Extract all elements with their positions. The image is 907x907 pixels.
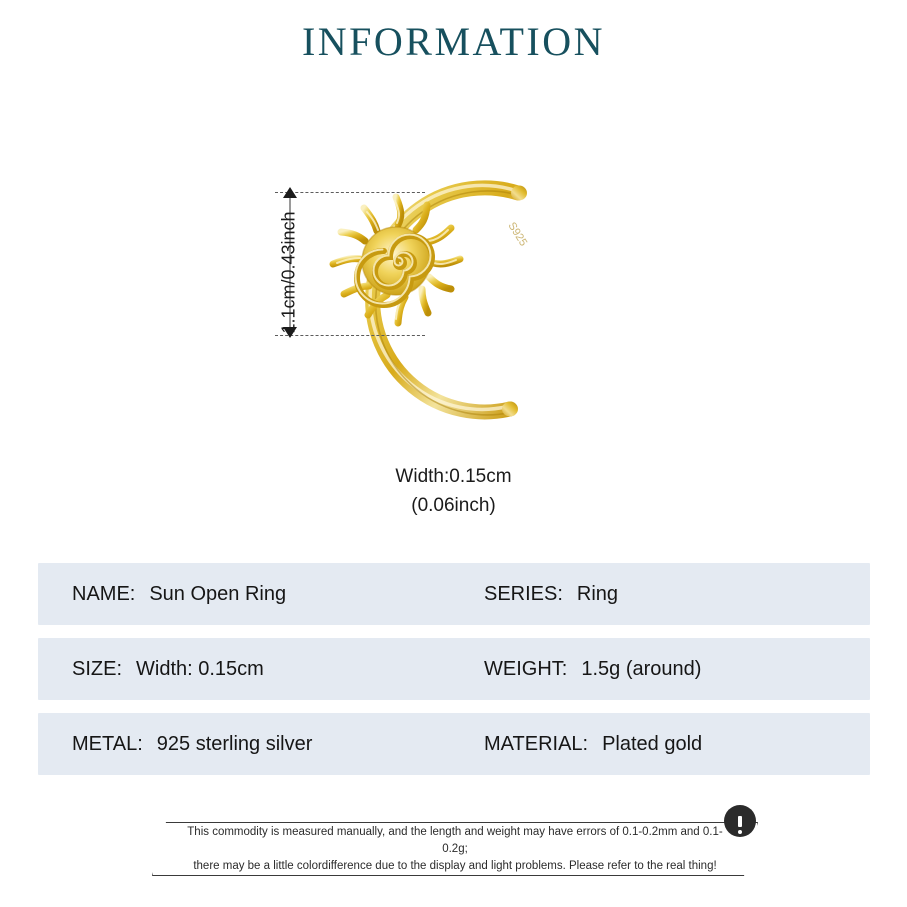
spec-series: SERIES: Ring (470, 583, 870, 606)
height-dimension-label: 1.1cm/0.43inch (279, 211, 300, 333)
disclaimer-line-2: there may be a little colordifference du… (193, 858, 716, 875)
spec-key: METAL: (72, 733, 143, 756)
exclamation-circle-icon (724, 805, 756, 837)
disclaimer-line-1: This commodity is measured manually, and… (178, 824, 732, 858)
exclamation-mark (738, 816, 742, 827)
spec-value: 1.5g (around) (581, 658, 701, 681)
spec-size: SIZE: Width: 0.15cm (38, 658, 470, 681)
spec-key: MATERIAL: (484, 733, 588, 756)
page-title: INFORMATION (0, 18, 907, 65)
disclaimer-text: This commodity is measured manually, and… (152, 822, 758, 876)
sun-charm (333, 197, 460, 323)
table-row: SIZE: Width: 0.15cm WEIGHT: 1.5g (around… (38, 638, 870, 700)
spec-material: MATERIAL: Plated gold (470, 733, 870, 756)
s925-stamp: S925 (505, 220, 529, 248)
dimension-arrow-up (283, 187, 297, 198)
spec-value: Plated gold (602, 733, 702, 756)
spec-key: NAME: (72, 583, 135, 606)
spec-value: 925 sterling silver (157, 733, 313, 756)
disclaimer-banner: This commodity is measured manually, and… (152, 822, 758, 876)
dimension-extension-line-top (275, 192, 425, 193)
ring-image: S925 (300, 165, 590, 455)
spec-key: WEIGHT: (484, 658, 567, 681)
spec-value: Sun Open Ring (149, 583, 286, 606)
spec-name: NAME: Sun Open Ring (38, 583, 470, 606)
table-row: NAME: Sun Open Ring SERIES: Ring (38, 563, 870, 625)
svg-text:S925: S925 (505, 220, 529, 248)
spec-table: NAME: Sun Open Ring SERIES: Ring SIZE: W… (38, 563, 870, 788)
spec-value: Ring (577, 583, 618, 606)
spec-metal: METAL: 925 sterling silver (38, 733, 470, 756)
spec-key: SERIES: (484, 583, 563, 606)
dimension-extension-line-bottom (275, 335, 425, 336)
product-figure: S925 (0, 150, 907, 540)
width-dimension-inch: (0.06inch) (0, 491, 907, 520)
width-dimension-cm: Width:0.15cm (0, 462, 907, 491)
spec-weight: WEIGHT: 1.5g (around) (470, 658, 870, 681)
spec-key: SIZE: (72, 658, 122, 681)
table-row: METAL: 925 sterling silver MATERIAL: Pla… (38, 713, 870, 775)
width-dimension-label: Width:0.15cm (0.06inch) (0, 462, 907, 520)
spec-value: Width: 0.15cm (136, 658, 264, 681)
